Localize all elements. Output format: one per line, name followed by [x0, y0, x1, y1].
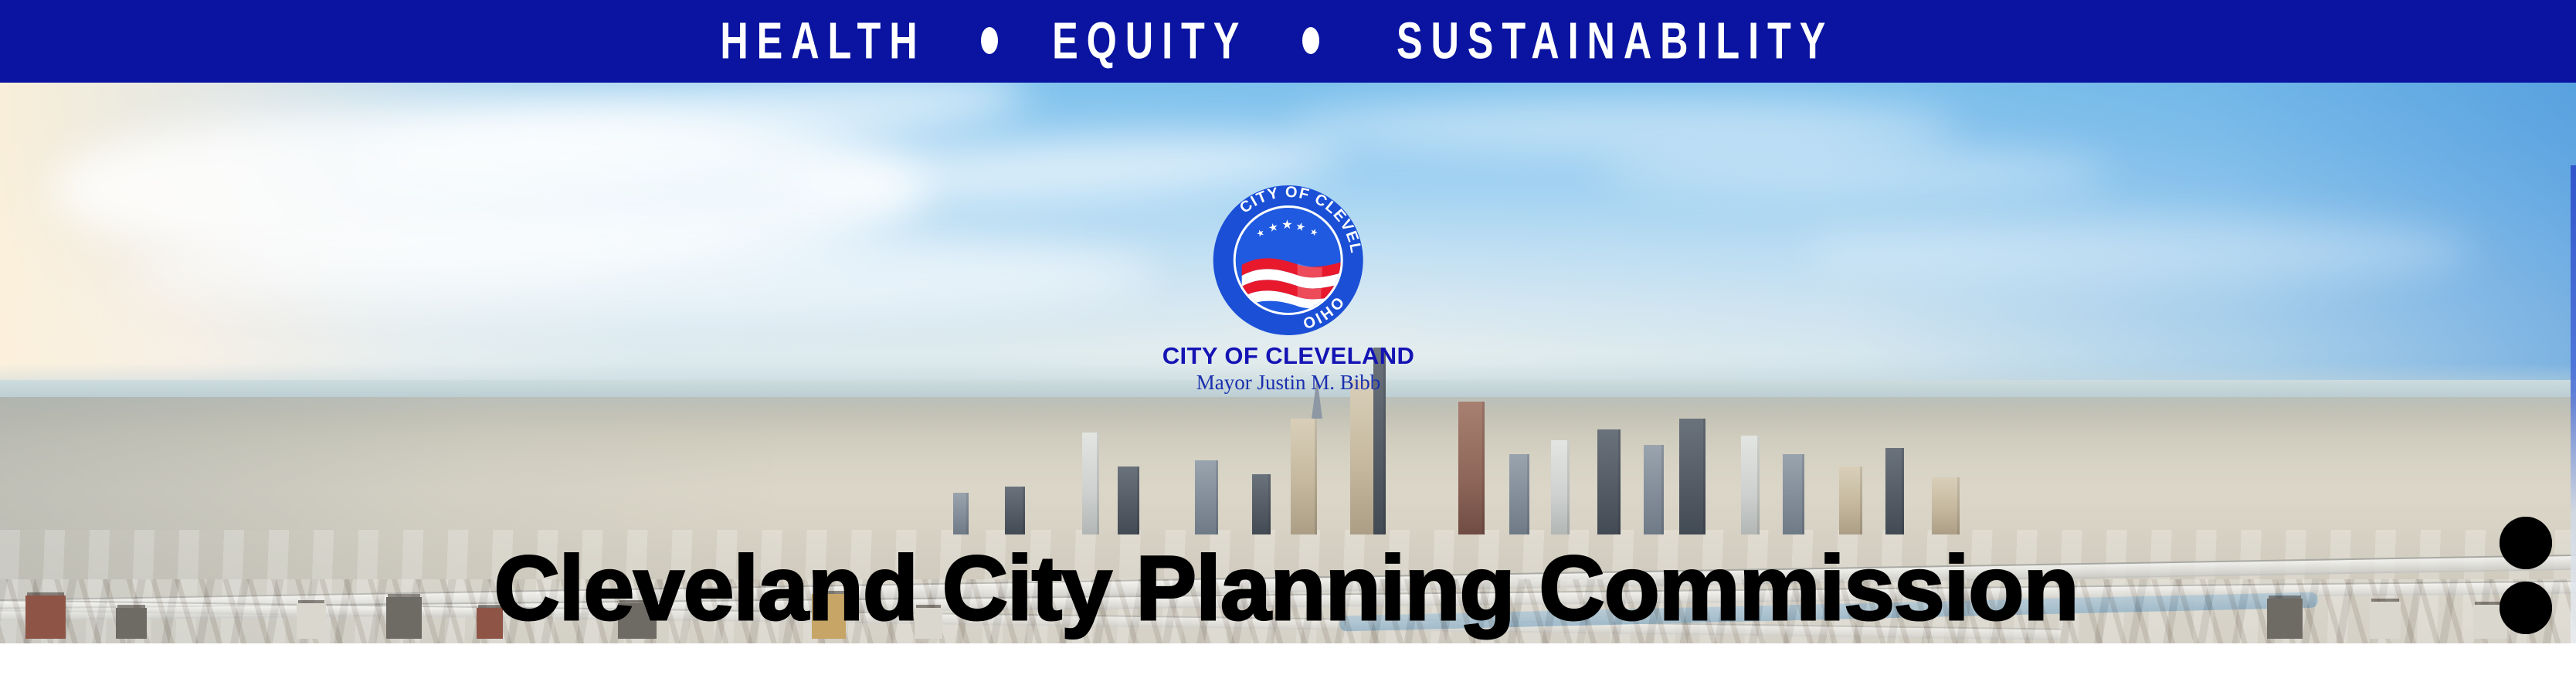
- seal-stars: ★★★★★: [1236, 220, 1341, 232]
- social-links: [2500, 517, 2552, 643]
- right-edge-trim: [2571, 165, 2576, 643]
- youtube-link[interactable]: [2500, 517, 2552, 569]
- wordmark-mayor: Mayor Justin M. Bibb: [1162, 370, 1415, 395]
- house: [116, 608, 147, 639]
- skyline-building: [1252, 474, 1271, 534]
- skyline-building: [1885, 448, 1904, 534]
- house: [2370, 602, 2401, 639]
- skyline-building: [1005, 487, 1025, 534]
- city-seal-block: CITY OF CLEVELAND OHIO ★★★★★: [1162, 185, 1415, 395]
- skyline-building: [953, 493, 969, 534]
- tagline-separator-dot-2: [1302, 27, 1319, 54]
- tagline-word-sustainability: SUSTAINABILITY: [1396, 15, 1833, 66]
- skyline-building: [1082, 433, 1099, 534]
- cloud-wisp: [1597, 150, 2113, 195]
- tagline-inner: HEALTH EQUITY SUSTAINABILITY: [701, 18, 1875, 64]
- cloud-wisp: [1804, 217, 2473, 284]
- wordmark-city: CITY OF CLEVELAND: [1162, 343, 1415, 368]
- tagline-separator-dot-1: [981, 27, 998, 54]
- house: [297, 603, 326, 639]
- instagram-icon: [2500, 582, 2552, 634]
- seal-inner-disc: ★★★★★: [1234, 205, 1343, 315]
- skyline-terminal-tower-base: [1291, 419, 1317, 534]
- page-title: Cleveland City Planning Commission: [494, 543, 2078, 634]
- skyline-building: [1597, 429, 1621, 534]
- youtube-icon: [2500, 517, 2552, 569]
- skyline-building: [1839, 467, 1862, 534]
- tagline-bar: HEALTH EQUITY SUSTAINABILITY: [0, 0, 2576, 83]
- house: [2267, 599, 2303, 639]
- skyline-building: [1195, 460, 1218, 534]
- skyline-building: [1932, 477, 1960, 534]
- skyline-building: [1783, 454, 1804, 534]
- skyline-building: [1509, 454, 1529, 534]
- skyline-building: [1644, 445, 1664, 534]
- tagline-word-health: HEALTH: [721, 15, 926, 66]
- seal-waving-flag-icon: [1240, 248, 1343, 310]
- cloud-wisp: [1288, 100, 1958, 156]
- house: [25, 595, 66, 639]
- cloud-wisp: [129, 229, 1159, 318]
- skyline-building: [1679, 419, 1705, 534]
- hero-photo: CITY OF CLEVELAND OHIO ★★★★★: [0, 83, 2576, 643]
- tagline-word-equity: EQUITY: [1052, 15, 1247, 66]
- skyline-building: [1741, 436, 1760, 534]
- city-of-cleveland-seal-icon: CITY OF CLEVELAND OHIO ★★★★★: [1213, 185, 1363, 335]
- skyline-terminal-annex: [1458, 402, 1485, 534]
- instagram-link[interactable]: [2500, 582, 2552, 634]
- skyline-building: [1118, 467, 1139, 534]
- house: [386, 597, 422, 639]
- skyline-building: [1551, 440, 1570, 534]
- planning-commission-banner: HEALTH EQUITY SUSTAINABILITY: [0, 0, 2576, 682]
